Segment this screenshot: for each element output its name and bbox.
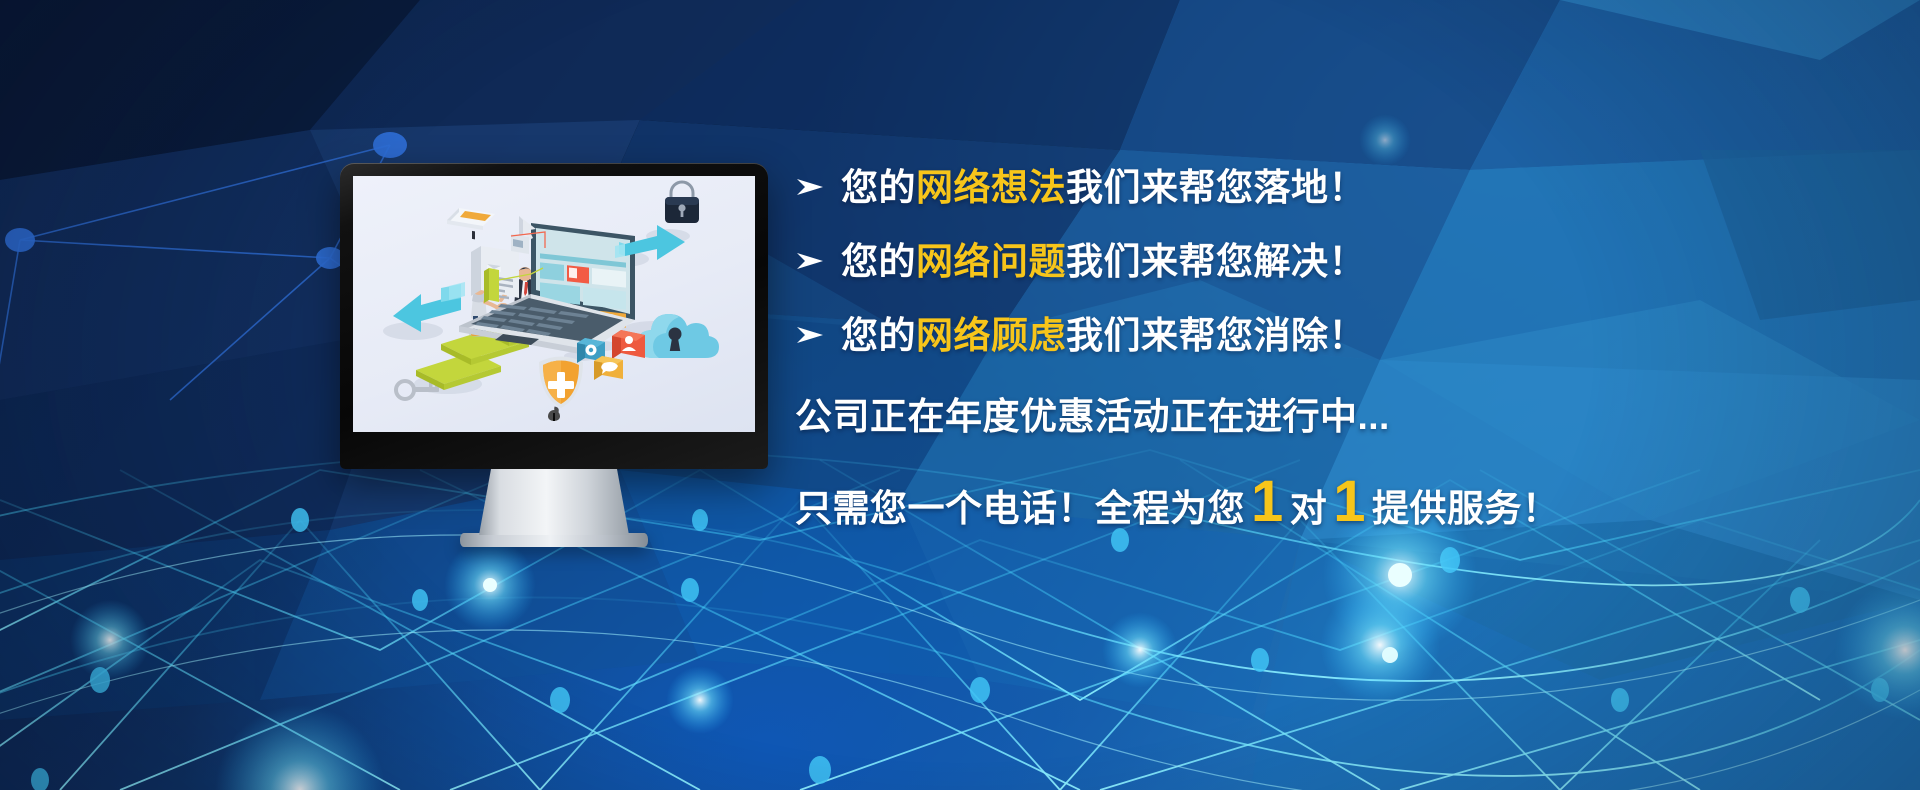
bullet-3-highlight: 网络顾虑: [916, 315, 1066, 356]
usb-token-icon: [447, 208, 495, 239]
promo-banner: 您的网络想法我们来帮您落地！ 您的网络问题我们来帮您解决！ 您的网络顾虑我们来帮…: [0, 0, 1920, 790]
arrow-right-icon: [795, 176, 841, 198]
chat-app-icon: [594, 356, 623, 380]
promo-line-2: 只需您一个电话！全程为您 1 对 1 提供服务！: [795, 473, 1835, 531]
monitor-graphic: [340, 163, 768, 547]
arrow-right-icon: [795, 250, 841, 272]
promo-2-number-a: 1: [1245, 473, 1290, 531]
user-app-icon: [612, 330, 645, 359]
file-card-icon: [511, 234, 529, 254]
copy-block: 您的网络想法我们来帮您落地！ 您的网络问题我们来帮您解决！ 您的网络顾虑我们来帮…: [795, 150, 1835, 531]
promo-2-part2: 提供服务！: [1372, 490, 1560, 527]
bullet-1-highlight: 网络想法: [916, 167, 1066, 208]
marker-icon: [484, 268, 499, 303]
bullet-3-pre: 您的: [841, 315, 916, 356]
bullet-3-post: 我们来帮您消除！: [1066, 315, 1366, 356]
monitor-chin: [353, 395, 755, 432]
padlock-icon: [665, 182, 699, 223]
monitor-screen: [353, 176, 755, 432]
bullet-2-highlight: 网络问题: [916, 241, 1066, 282]
bullet-1-post: 我们来帮您落地！: [1066, 167, 1366, 208]
promo-line-1: 公司正在年度优惠活动正在进行中...: [795, 398, 1835, 435]
monitor-frame: [340, 163, 768, 469]
bullet-2-post: 我们来帮您解决！: [1066, 241, 1366, 282]
bullet-line-3: 您的网络顾虑我们来帮您消除！: [795, 298, 1835, 372]
bullet-line-1: 您的网络想法我们来帮您落地！: [795, 150, 1835, 224]
monitor-stand-neck: [479, 469, 629, 535]
bullet-text-3: 您的网络顾虑我们来帮您消除！: [841, 317, 1366, 354]
arrow-right-icon: [795, 324, 841, 346]
promo-2-number-b: 1: [1327, 473, 1372, 531]
monitor-stand-foot: [460, 533, 648, 547]
bullet-text-1: 您的网络想法我们来帮您落地！: [841, 169, 1366, 206]
bullet-1-pre: 您的: [841, 167, 916, 208]
bullet-text-2: 您的网络问题我们来帮您解决！: [841, 243, 1366, 280]
cloud-lock-icon: [637, 314, 719, 358]
promo-2-middle: 对: [1290, 490, 1328, 527]
bullet-line-2: 您的网络问题我们来帮您解决！: [795, 224, 1835, 298]
apple-logo-icon: [548, 407, 560, 421]
promo-2-part1: 只需您一个电话！全程为您: [795, 490, 1245, 527]
bullet-2-pre: 您的: [841, 241, 916, 282]
isometric-illustration: [353, 176, 755, 432]
